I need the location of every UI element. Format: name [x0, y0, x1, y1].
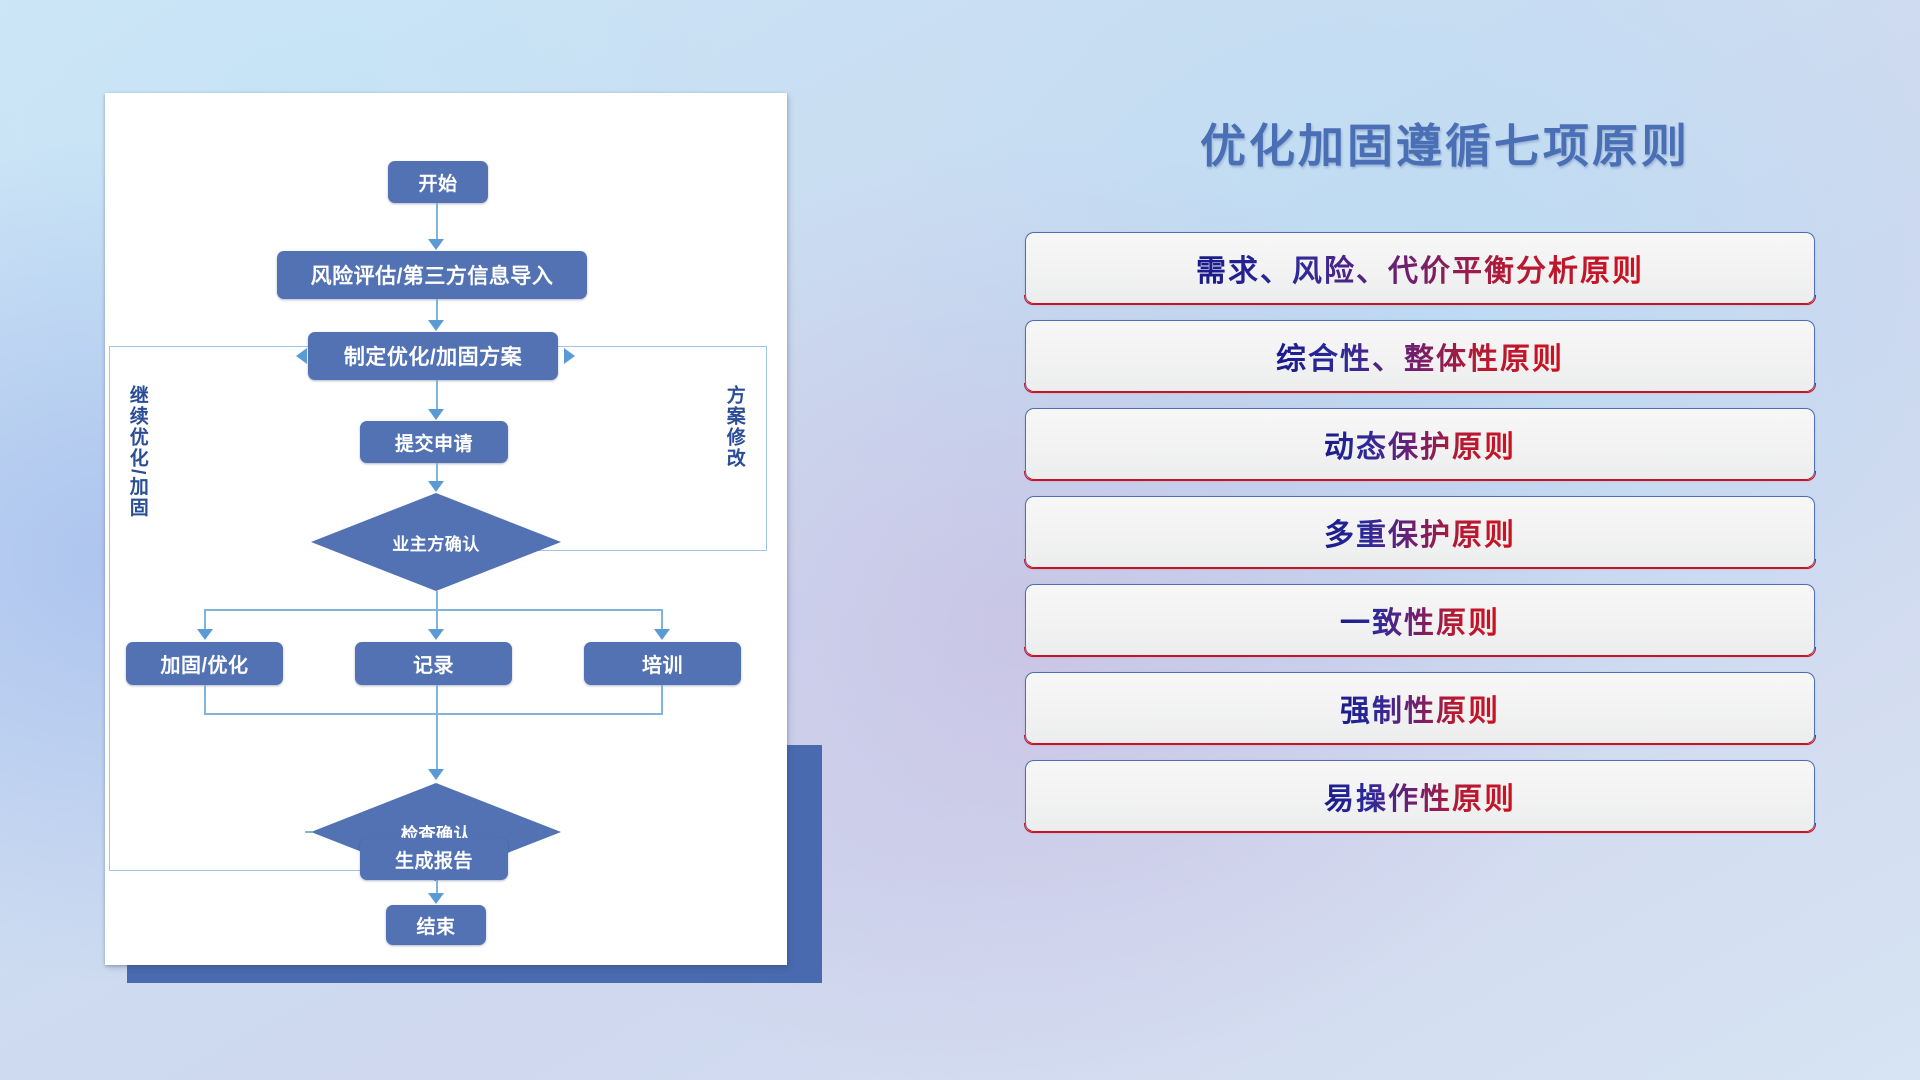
flow-node-reinforce[interactable]: 加固/优化: [126, 642, 283, 685]
edge-submit-owner: [436, 463, 438, 482]
branch-bus-horizontal: [204, 609, 663, 611]
flow-node-owner-confirm-label: 业主方确认: [392, 530, 480, 555]
flow-node-plan[interactable]: 制定优化/加固方案: [308, 332, 558, 380]
principle-label: 多重保护原则: [1324, 510, 1516, 554]
arrow-plan-submit: [428, 409, 444, 420]
arrow-risk-plan: [428, 320, 444, 331]
flow-node-report-label: 生成报告: [395, 846, 473, 873]
flow-node-reinforce-label: 加固/优化: [160, 649, 248, 678]
principle-item-5[interactable]: 一致性原则: [1025, 584, 1815, 656]
flow-node-training[interactable]: 培训: [584, 642, 741, 685]
flow-node-record[interactable]: 记录: [355, 642, 512, 685]
flow-node-risk[interactable]: 风险评估/第三方信息导入: [277, 251, 587, 299]
principle-item-4[interactable]: 多重保护原则: [1025, 496, 1815, 568]
principle-label: 易操作性原则: [1324, 774, 1516, 818]
branch-leg-training: [661, 609, 663, 631]
flow-node-risk-label: 风险评估/第三方信息导入: [311, 260, 554, 290]
page-title: 优化加固遵循七项原则: [1035, 110, 1855, 176]
check-to-leftloop: [305, 831, 313, 833]
flow-node-report[interactable]: 生成报告: [360, 838, 508, 880]
flow-node-submit-label: 提交申请: [395, 429, 473, 456]
principle-item-2[interactable]: 综合性、整体性原则: [1025, 320, 1815, 392]
edge-start-risk: [436, 203, 438, 240]
principle-label: 需求、风险、代价平衡分析原则: [1196, 246, 1644, 290]
flow-node-start-label: 开始: [418, 169, 457, 196]
arrow-branch-training: [654, 629, 670, 640]
branch-leg-reinforce: [204, 609, 206, 631]
principle-item-1[interactable]: 需求、风险、代价平衡分析原则: [1025, 232, 1815, 304]
edge-label-continue-optimize: 继续优化/加固: [127, 385, 147, 518]
principle-item-7[interactable]: 易操作性原则: [1025, 760, 1815, 832]
edge-label-continue-optimize-text: 继续优化/加固: [127, 385, 148, 518]
flow-node-submit[interactable]: 提交申请: [360, 421, 508, 463]
arrow-start-risk: [428, 239, 444, 250]
merge-leg-training: [661, 685, 663, 715]
flow-node-start[interactable]: 开始: [388, 161, 488, 203]
flow-node-plan-label: 制定优化/加固方案: [344, 341, 522, 371]
edge-label-plan-revision: 方案修改: [724, 385, 744, 469]
arrow-report-end: [428, 893, 444, 904]
principles-list: 需求、风险、代价平衡分析原则 综合性、整体性原则 动态保护原则 多重保护原则 一…: [1025, 232, 1815, 848]
principle-label: 强制性原则: [1340, 686, 1500, 730]
edge-plan-submit: [436, 380, 438, 410]
edge-owner-down: [436, 591, 438, 631]
principle-label: 动态保护原则: [1324, 422, 1516, 466]
edge-risk-plan: [436, 299, 438, 321]
flow-node-end-label: 结束: [416, 912, 455, 939]
arrow-submit-owner: [428, 481, 444, 492]
flow-node-training-label: 培训: [642, 649, 683, 678]
merge-to-check: [436, 685, 438, 771]
principle-label: 一致性原则: [1340, 598, 1500, 642]
flow-node-end[interactable]: 结束: [386, 905, 486, 945]
merge-leg-reinforce: [204, 685, 206, 715]
arrow-rightloop-plan: [564, 348, 575, 364]
flowchart-card: 开始 风险评估/第三方信息导入 制定优化/加固方案 提交申请 业主方确认 加固/…: [105, 93, 787, 965]
edge-label-plan-revision-text: 方案修改: [724, 385, 745, 469]
arrow-merge-check: [428, 769, 444, 780]
principle-item-6[interactable]: 强制性原则: [1025, 672, 1815, 744]
principle-item-3[interactable]: 动态保护原则: [1025, 408, 1815, 480]
arrow-branch-reinforce: [197, 629, 213, 640]
principle-label: 综合性、整体性原则: [1276, 334, 1564, 378]
merge-bus-horizontal: [204, 713, 663, 715]
arrow-leftloop-plan: [296, 348, 307, 364]
arrow-owner-record: [428, 629, 444, 640]
flow-node-record-label: 记录: [413, 649, 454, 678]
